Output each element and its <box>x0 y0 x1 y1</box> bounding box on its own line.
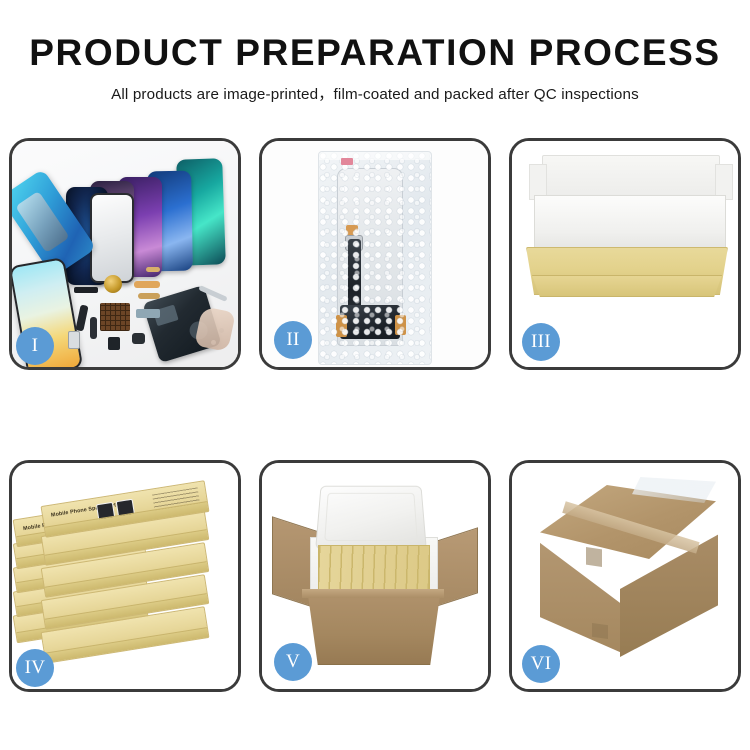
process-steps-grid: I II <box>9 138 741 692</box>
flex-cable-c <box>136 309 160 318</box>
bag-label-sticker <box>341 158 353 165</box>
step-panel-1[interactable]: I <box>9 138 241 370</box>
step-badge-3: III <box>522 323 560 361</box>
step-badge-2: II <box>274 321 312 359</box>
carton-body <box>300 591 448 665</box>
step-badge-1: I <box>16 327 54 365</box>
camera-module-part <box>132 333 145 344</box>
foam-sheet <box>534 195 726 255</box>
bubble-wrap-bag <box>318 151 432 365</box>
page-header: PRODUCT PREPARATION PROCESS All products… <box>0 0 750 104</box>
step-badge-5: V <box>274 643 312 681</box>
step-panel-2[interactable]: II <box>259 138 491 370</box>
step-panel-5[interactable]: V <box>259 460 491 692</box>
speaker-part <box>74 287 98 293</box>
sim-tray-part <box>68 331 80 349</box>
page-subtitle: All products are image-printed，film-coat… <box>0 82 750 104</box>
step-badge-4: IV <box>16 649 54 687</box>
carton-rim <box>302 589 444 598</box>
ribbon-cable-b <box>90 317 97 339</box>
bubble-texture-secondary <box>319 152 431 364</box>
screen-protector-glass <box>90 193 134 283</box>
flex-cable-b <box>138 293 160 299</box>
bag-seal <box>319 152 431 160</box>
page-title: PRODUCT PREPARATION PROCESS <box>0 34 750 73</box>
taptic-engine-part <box>104 275 122 293</box>
step-panel-3[interactable]: III <box>509 138 741 370</box>
carton-tab-upper <box>586 547 602 567</box>
carton-tab-lower <box>592 623 608 639</box>
yellow-box-front <box>528 275 726 297</box>
connector-grid-part <box>100 303 130 331</box>
chip-part <box>108 337 120 350</box>
step-panel-6[interactable]: VI <box>509 460 741 692</box>
button-flex-part <box>146 267 160 272</box>
step-panel-4[interactable]: Mobile Phone Spare Parts Mobile Pho <box>9 460 241 692</box>
flex-cable-a <box>134 281 160 288</box>
foam-lid <box>315 486 427 550</box>
yellow-boxes-inside <box>318 545 430 595</box>
step-badge-6: VI <box>522 645 560 683</box>
